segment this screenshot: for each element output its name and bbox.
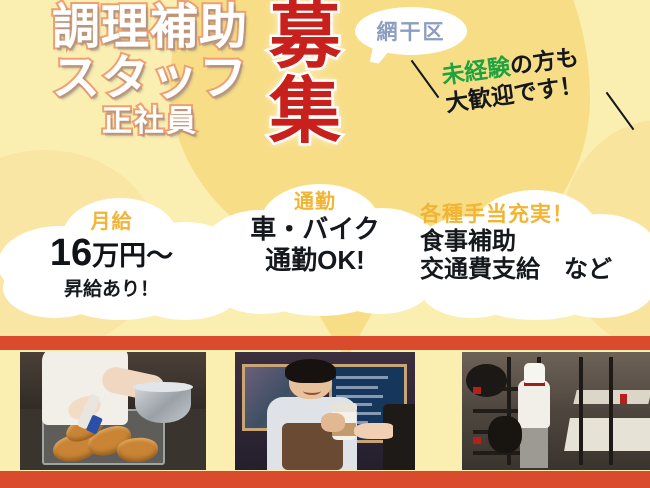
recruit-char-1: 募 (255, 2, 355, 73)
cloud-salary-amount-unit: 万円～ (92, 241, 173, 271)
cloud-salary-sub: 昇給あり！ (14, 274, 209, 301)
cloud-benefits-line-1: 食事補助 (420, 228, 645, 256)
cloud-commute: 通勤 車・バイク 通勤OK! (225, 185, 405, 275)
headline-line-3-employment-type: 正社員 (20, 107, 280, 138)
recruit-label: 募 集 (255, 2, 355, 147)
cloud-commute-line-2: 通勤OK! (225, 245, 405, 276)
photo-pastry-glazing (20, 352, 206, 470)
divider-band-top (0, 336, 650, 350)
cloud-salary-amount: 16万円～ (14, 234, 209, 274)
photo-bakery-kitchen (462, 352, 650, 470)
headline-line-2: スタッフ (20, 55, 280, 104)
cloud-salary: 月給 16万円～ 昇給あり！ (14, 205, 209, 301)
divider-band-bottom (0, 471, 650, 488)
cloud-benefits: 各種手当充実！ 食事補助 交通費支給 など (420, 198, 645, 285)
cloud-commute-head: 通勤 (225, 185, 405, 214)
photo-barista-serving (235, 352, 415, 470)
headline-line-1: 調理補助 (20, 4, 280, 53)
job-ad-poster: 調理補助 スタッフ 正社員 募 集 網干区 未経験の方も 大歓迎です！ (0, 0, 650, 488)
location-bubble-text: 網干区 (377, 16, 446, 46)
cloud-salary-head: 月給 (14, 205, 209, 234)
recruit-char-2: 集 (255, 77, 355, 148)
location-speech-bubble: 網干区 (355, 7, 467, 55)
headline-block: 調理補助 スタッフ 正社員 (20, 4, 280, 138)
photo-strip (0, 350, 650, 472)
cloud-benefits-line-2: 交通費支給 など (420, 256, 645, 284)
cloud-commute-line-1: 車・バイク (225, 214, 405, 245)
cloud-salary-amount-number: 16 (50, 232, 92, 274)
cloud-benefits-head: 各種手当充実！ (420, 198, 645, 228)
